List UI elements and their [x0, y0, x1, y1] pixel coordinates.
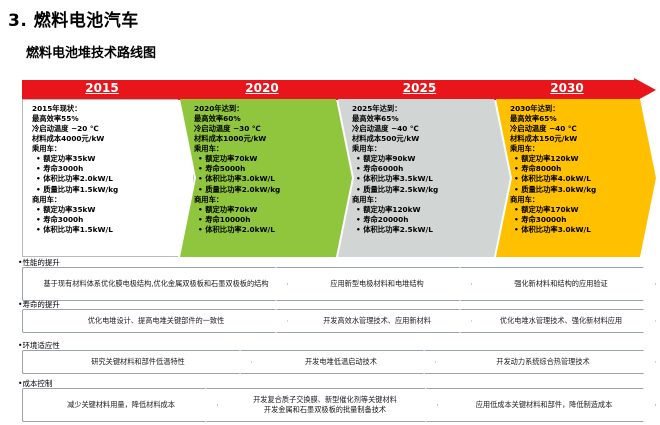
list-item: 质量比功率2.0kW/kg — [194, 185, 346, 195]
category-step-text: 开发电堆低温启动技术 — [305, 357, 377, 367]
category-step[interactable]: 优化电堆水管理技术、强化新材料应用 — [460, 309, 656, 333]
commercial-head-2030: 商用车： — [510, 195, 650, 205]
column-head-2015: 2015年现状： — [32, 104, 188, 114]
category-step-text: 应用新型电极材料和电堆结构 — [330, 279, 423, 289]
category-step[interactable]: 基于现有材料体系优化膜电极结构,优化金属双极板和石墨双极板的结构 — [22, 267, 288, 301]
column-line-2015-1: 冷启动温度 −20 ℃ — [32, 124, 188, 134]
list-item: 额定功率35kW — [32, 154, 188, 164]
category-step-text: 研究关键材料和部件低温特性 — [91, 357, 184, 367]
commercial-list-2030: 额定功率170kW 寿命30000h 体积比功率3.0kW/L — [510, 205, 650, 235]
category-step-text: 减少关键材料用量，降低材料成本 — [67, 400, 175, 410]
column-head-2025: 2025年达到： — [352, 104, 504, 114]
passenger-head-2025: 乘用车： — [352, 144, 504, 154]
column-line-2025-0: 最高效率65% — [352, 114, 504, 124]
list-item: 额定功率70kW — [194, 154, 346, 164]
list-item: 寿命10000h — [194, 215, 346, 225]
list-item: 体积比功率3.0kW/L — [194, 174, 346, 184]
list-item: 寿命3000h — [32, 164, 188, 174]
category-step[interactable]: 应用低成本关键材料和部件，降低制造成本 — [426, 388, 656, 422]
column-line-2030-2: 材料成本150元/kW — [510, 134, 650, 144]
list-item: 体积比功率2.0kW/L — [194, 225, 346, 235]
passenger-list-2015: 额定功率35kW 寿命3000h 体积比功率2.0kW/L 质量比功率1.5kW… — [32, 154, 188, 194]
category-step[interactable]: 开发电堆低温启动技术 — [240, 350, 436, 374]
column-line-2020-1: 冷启动温度 −30 ℃ — [194, 124, 346, 134]
passenger-list-2020: 额定功率70kW 寿命5000h 体积比功率3.0kW/L 质量比功率2.0kW… — [194, 154, 346, 194]
list-item: 额定功率170kW — [510, 205, 650, 215]
category-step-text: 优化电堆设计、提高电堆关键部件的一致性 — [88, 316, 225, 326]
category-track: 减少关键材料用量，降低材料成本 开发复合质子交换膜、新型催化剂等关键材料 开发金… — [22, 388, 656, 422]
list-item: 寿命20000h — [352, 215, 504, 225]
passenger-head-2020: 乘用车： — [194, 144, 346, 154]
passenger-head-2015: 乘用车： — [32, 144, 188, 154]
column-head-2030: 2030年达到： — [510, 104, 650, 114]
commercial-head-2015: 商用车： — [32, 195, 188, 205]
commercial-head-2020: 商用车： — [194, 195, 346, 205]
year-label-2025: 2025 — [342, 81, 497, 95]
category-step[interactable]: 开发复合质子交换膜、新型催化剂等关键材料 开发金属和石墨双极板的批量制备技术 — [206, 388, 438, 422]
column-head-2020: 2020年达到： — [194, 104, 346, 114]
column-line-2025-1: 冷启动温度 −40 ℃ — [352, 124, 504, 134]
column-line-2030-1: 冷启动温度 −40 ℃ — [510, 124, 650, 134]
category-step-text: 开发复合质子交换膜、新型催化剂等关键材料 开发金属和石墨双极板的批量制备技术 — [253, 395, 397, 416]
page-title: 3. 燃料电池汽车 — [8, 6, 139, 31]
commercial-list-2015: 额定功率35kW 寿命3000h 体积比功率1.5kW/L — [32, 205, 188, 235]
list-item: 质量比功率2.5kW/kg — [352, 185, 504, 195]
column-line-2020-2: 材料成本1000元/kW — [194, 134, 346, 144]
list-item: 额定功率120kW — [510, 154, 650, 164]
column-line-2025-2: 材料成本500元/kW — [352, 134, 504, 144]
column-line-2030-0: 最高效率65% — [510, 114, 650, 124]
list-item: 寿命8000h — [510, 164, 650, 174]
list-item: 质量比功率3.0kW/kg — [510, 185, 650, 195]
list-item: 寿命3000h — [32, 215, 188, 225]
list-item: 质量比功率1.5kW/kg — [32, 185, 188, 195]
category-step-text: 开发高效水管理技术、应用新材料 — [323, 316, 431, 326]
category-step[interactable]: 应用新型电极材料和电堆结构 — [276, 267, 472, 301]
commercial-list-2020: 额定功率70kW 寿命10000h 体积比功率2.0kW/L — [194, 205, 346, 235]
category-step-text: 应用低成本关键材料和部件，降低制造成本 — [476, 400, 613, 410]
list-item: 寿命5000h — [194, 164, 346, 174]
roadmap-column-2020: 2020年达到： 最高效率60% 冷启动温度 −30 ℃ 材料成本1000元/k… — [180, 99, 352, 257]
list-item: 额定功率70kW — [194, 205, 346, 215]
list-item: 体积比功率3.5kW/L — [352, 174, 504, 184]
list-item: 体积比功率2.0kW/L — [32, 174, 188, 184]
category-step[interactable]: 强化新材料和结构的应用验证 — [460, 267, 656, 301]
list-item: 体积比功率3.0kW/L — [510, 225, 650, 235]
category-step[interactable]: 研究关键材料和部件低温特性 — [22, 350, 252, 374]
passenger-list-2025: 额定功率90kW 寿命6000h 体积比功率3.5kW/L 质量比功率2.5kW… — [352, 154, 504, 194]
category-step-text: 优化电堆水管理技术、强化新材料应用 — [500, 316, 622, 326]
category-step-text: 基于现有材料体系优化膜电极结构,优化金属双极板和石墨双极板的结构 — [43, 279, 268, 289]
category-track: 研究关键材料和部件低温特性 开发电堆低温启动技术 开发动力系统综合热管理技术 — [22, 350, 656, 374]
category-step-text: 强化新材料和结构的应用验证 — [514, 279, 607, 289]
roadmap-column-2030: 2030年达到： 最高效率65% 冷启动温度 −40 ℃ 材料成本150元/kW… — [496, 99, 656, 257]
category-step[interactable]: 开发动力系统综合热管理技术 — [424, 350, 656, 374]
commercial-head-2025: 商用车： — [352, 195, 504, 205]
list-item: 寿命6000h — [352, 164, 504, 174]
category-step[interactable]: 优化电堆设计、提高电堆关键部件的一致性 — [22, 309, 288, 333]
column-line-2015-2: 材料成本4000元/kW — [32, 134, 188, 144]
list-item: 体积比功率4.0kW/L — [510, 174, 650, 184]
category-step-text: 开发动力系统综合热管理技术 — [496, 357, 589, 367]
list-item: 体积比功率1.5kW/L — [32, 225, 188, 235]
chart-subtitle: 燃料电池堆技术路线图 — [26, 42, 156, 61]
year-label-2030: 2030 — [497, 81, 637, 95]
list-item: 额定功率35kW — [32, 205, 188, 215]
year-label-2015: 2015 — [22, 81, 182, 95]
category-track: 基于现有材料体系优化膜电极结构,优化金属双极板和石墨双极板的结构 应用新型电极材… — [22, 267, 656, 301]
roadmap-column-2025: 2025年达到： 最高效率65% 冷启动温度 −40 ℃ 材料成本500元/kW… — [338, 99, 510, 257]
list-item: 体积比功率2.5kW/L — [352, 225, 504, 235]
passenger-list-2030: 额定功率120kW 寿命8000h 体积比功率4.0kW/L 质量比功率3.0k… — [510, 154, 650, 194]
category-step[interactable]: 开发高效水管理技术、应用新材料 — [276, 309, 472, 333]
roadmap-columns: 2015年现状： 最高效率55% 冷启动温度 −20 ℃ 材料成本4000元/k… — [22, 99, 656, 257]
year-label-2020: 2020 — [182, 81, 342, 95]
roadmap-column-2015: 2015年现状： 最高效率55% 冷启动温度 −20 ℃ 材料成本4000元/k… — [22, 99, 194, 257]
category-step[interactable]: 减少关键材料用量，降低材料成本 — [22, 388, 218, 422]
list-item: 寿命30000h — [510, 215, 650, 225]
list-item: 额定功率120kW — [352, 205, 504, 215]
column-line-2015-0: 最高效率55% — [32, 114, 188, 124]
list-item: 额定功率90kW — [352, 154, 504, 164]
column-line-2020-0: 最高效率60% — [194, 114, 346, 124]
category-track: 优化电堆设计、提高电堆关键部件的一致性 开发高效水管理技术、应用新材料 优化电堆… — [22, 309, 656, 333]
passenger-head-2030: 乘用车： — [510, 144, 650, 154]
commercial-list-2025: 额定功率120kW 寿命20000h 体积比功率2.5kW/L — [352, 205, 504, 235]
